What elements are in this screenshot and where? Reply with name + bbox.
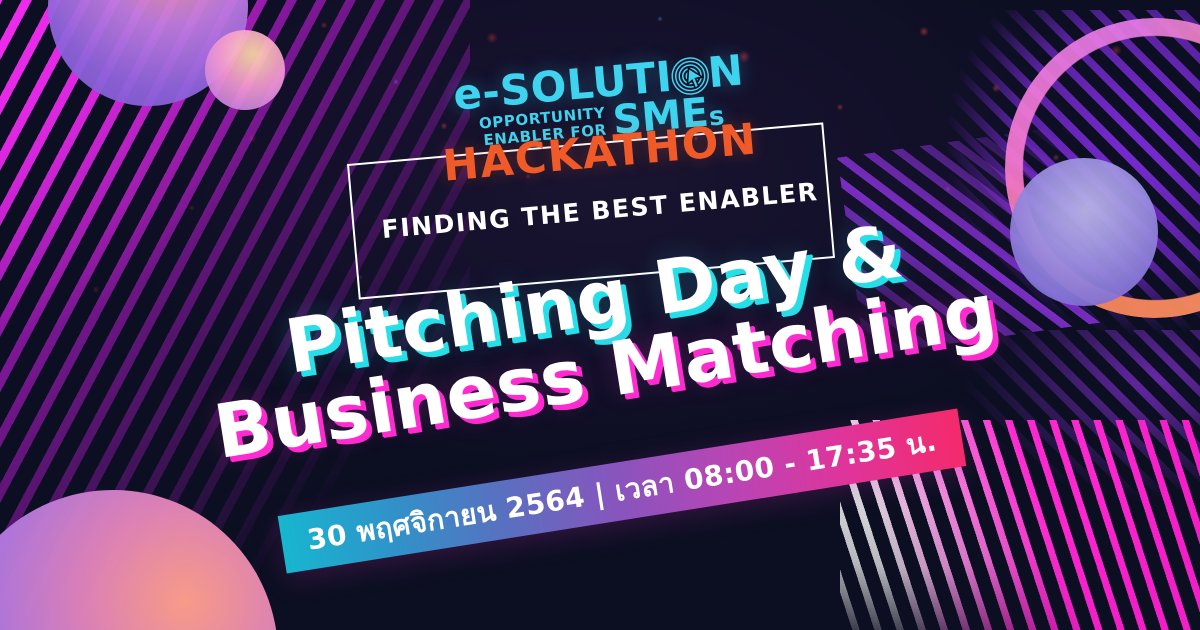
sphere-top-left-small-decor <box>205 30 285 110</box>
event-promo-banner: e-SOLUTI N OPPORTUNITY ENABLER FOR S <box>0 0 1200 630</box>
